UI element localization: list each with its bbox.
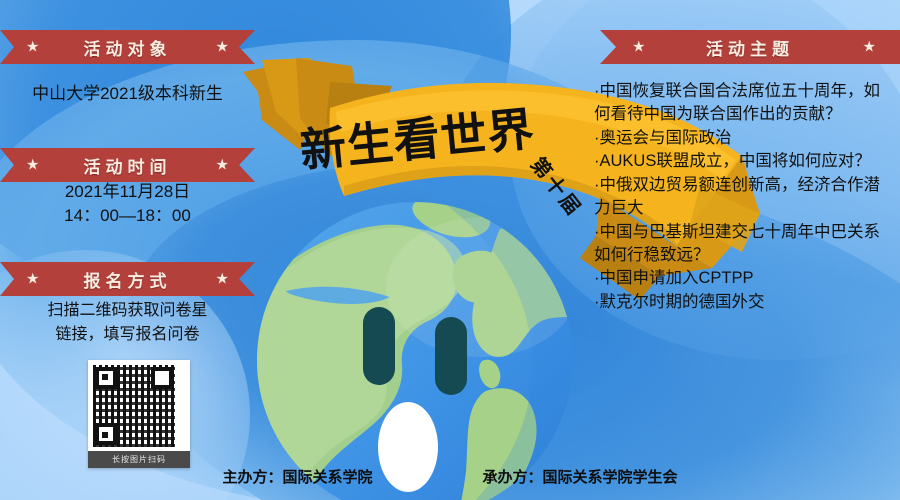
- star-icon: ★: [26, 158, 39, 173]
- banner-registration-label: 报名方式: [84, 267, 172, 292]
- star-icon: ★: [863, 40, 876, 55]
- banner-registration: ★ 报名方式 ★: [0, 262, 255, 296]
- star-icon: ★: [632, 40, 645, 55]
- banner-topics-label: 活动主题: [706, 35, 794, 60]
- star-icon: ★: [216, 40, 229, 55]
- registration-line-2: 链接，填写报名问卷: [0, 324, 255, 347]
- globe-eye-left: [363, 307, 395, 385]
- poster-root: 新生看世界 第十届 ★ 活动对象 ★ 中山大学2021级本科新生 ★ 活动时间 …: [0, 0, 900, 500]
- qr-eye-dot: [160, 374, 166, 380]
- banner-time: ★ 活动时间 ★: [0, 148, 255, 182]
- time-date: 2021年11月28日: [0, 180, 255, 204]
- topic-item: ·中俄双边贸易额连创新高，经济合作潜力巨大: [594, 174, 886, 221]
- footer-organizer: 主办方：国际关系学院: [222, 466, 372, 487]
- topic-item: ·中国恢复联合国合法席位五十周年，如何看待中国为联合国作出的贡献？: [594, 80, 886, 127]
- globe-illustration: [250, 195, 580, 500]
- topic-item: ·AUKUS联盟成立，中国将如何应对？: [594, 150, 886, 173]
- time-hours: 14：00—18：00: [0, 204, 255, 228]
- topics-list: ·中国恢复联合国合法席位五十周年，如何看待中国为联合国作出的贡献？ ·奥运会与国…: [594, 80, 886, 314]
- star-icon: ★: [26, 40, 39, 55]
- qr-code-image[interactable]: [93, 365, 175, 447]
- footer-co-organizer: 承办方：国际关系学院学生会: [483, 466, 678, 487]
- qr-eye-dot: [102, 432, 108, 438]
- topic-item: ·奥运会与国际政治: [594, 127, 886, 150]
- banner-topics: ★ 活动主题 ★: [600, 30, 900, 64]
- poster-title: 新生看世界: [297, 93, 537, 181]
- banner-audience: ★ 活动对象 ★: [0, 30, 255, 64]
- audience-body: 中山大学2021级本科新生: [0, 82, 255, 106]
- globe-eye-right: [435, 317, 467, 395]
- banner-audience-label: 活动对象: [84, 35, 172, 60]
- topic-item: ·默克尔时期的德国外交: [594, 291, 886, 314]
- star-icon: ★: [26, 272, 39, 287]
- banner-time-label: 活动时间: [84, 153, 172, 178]
- qr-code-block[interactable]: 长按图片扫码: [88, 360, 190, 468]
- topic-item: ·中国申请加入CPTPP: [594, 267, 886, 290]
- star-icon: ★: [216, 272, 229, 287]
- topic-item: ·中国与巴基斯坦建交七十周年中巴关系如何行稳致远？: [594, 221, 886, 268]
- registration-line-1: 扫描二维码获取问卷星: [0, 300, 255, 323]
- qr-eye-dot: [102, 374, 108, 380]
- star-icon: ★: [216, 158, 229, 173]
- footer: 主办方：国际关系学院 承办方：国际关系学院学生会: [0, 462, 900, 490]
